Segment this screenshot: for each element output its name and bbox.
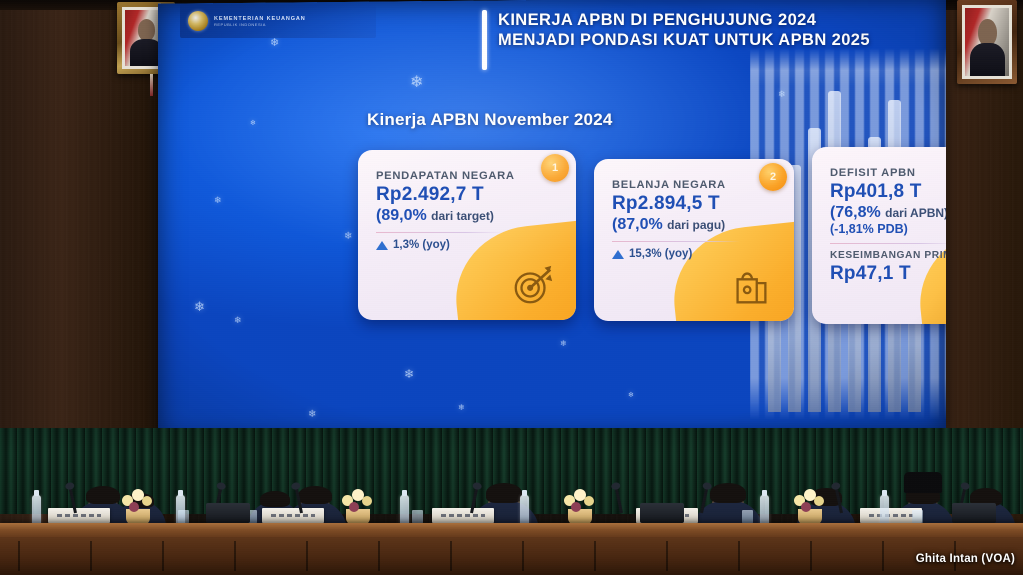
card-yoy-text: 15,3% (yoy) (629, 248, 692, 260)
kpi-card-belanja-negara: 2 BELANJA NEGARA Rp2.894,5 T (87,0% dari… (594, 159, 794, 321)
card-label: PENDAPATAN NEGARA (376, 170, 562, 182)
snowflake-icon: ❄ (560, 340, 567, 348)
speaker-hair (86, 486, 120, 505)
snowflake-icon: ❄ (214, 196, 222, 205)
card-percent-main: (76,8% (830, 204, 881, 221)
card-percent-note: dari APBN) (885, 206, 946, 220)
card-value-secondary: Rp47,1 T (830, 263, 946, 285)
speaker-hair (486, 483, 522, 503)
flower-arrangement (790, 489, 830, 525)
target-icon (510, 262, 556, 308)
card-label-secondary: KESEIMBANGAN PRIMER (830, 250, 946, 261)
kpi-card-defisit-apbn: 3 DEFISIT APBN Rp401,8 T (76,8% dari APB… (812, 147, 946, 324)
flower-bloom (584, 496, 594, 506)
ministry-logo-strip: KEMENTERIAN KEUANGAN REPUBLIK INDONESIA (180, 4, 376, 38)
card-percent: (76,8% dari APBN) (830, 204, 946, 222)
snowflake-icon: ❄ (234, 316, 242, 325)
water-bottle (760, 495, 769, 525)
snowflake-icon: ❄ (404, 368, 414, 380)
snowflake-icon: ❄ (194, 300, 205, 313)
card-divider (612, 241, 740, 242)
laptop (206, 503, 250, 523)
slide-title-block: KINERJA APBN DI PENGHUJUNG 2024 MENJADI … (482, 10, 882, 70)
card-percent: (87,0% dari pagu) (612, 216, 780, 234)
laptop (640, 503, 684, 523)
water-bottle (32, 495, 41, 525)
speaker-nameplate (432, 508, 494, 523)
water-bottle (880, 495, 889, 525)
card-value: Rp2.492,7 T (376, 184, 562, 206)
flower-arrangement (118, 489, 158, 525)
snowflake-icon: ❄ (308, 410, 316, 420)
panel-of-speakers: Ghita Intan (VOA) (0, 430, 1023, 575)
seated-speaker (712, 487, 744, 527)
kpi-card-pendapatan-negara: 1 PENDAPATAN NEGARA Rp2.492,7 T (89,0% d… (358, 150, 576, 320)
slide-title: KINERJA APBN DI PENGHUJUNG 2024 MENJADI … (498, 10, 882, 70)
card-percent: (89,0% dari target) (376, 207, 562, 225)
flower-bloom (349, 502, 359, 512)
flower-bloom (801, 502, 811, 512)
flower-bloom (129, 502, 139, 512)
speaker-nameplate (48, 508, 110, 523)
card-percent-note: dari pagu) (667, 218, 725, 232)
card-value: Rp401,8 T (830, 181, 946, 203)
snowflake-icon: ❄ (458, 404, 465, 412)
snowflake-icon: ❄ (344, 232, 352, 242)
peci-cap (904, 472, 941, 494)
flower-bloom (814, 496, 824, 506)
card-label: DEFISIT APBN (830, 167, 946, 179)
microphone (615, 487, 623, 513)
card-percent-main: (87,0% (612, 216, 663, 233)
flag-pole (150, 74, 153, 96)
card-label: BELANJA NEGARA (612, 179, 780, 191)
card-yoy-text: 1,3% (yoy) (393, 239, 450, 251)
card-divider (830, 243, 946, 244)
card-percent-note: dari target) (431, 209, 494, 223)
flower-arrangement (338, 489, 378, 525)
flower-bloom (142, 496, 152, 506)
speaker-nameplate (262, 508, 324, 523)
projection-screen: ❄❄❄❄❄❄❄❄❄❄❄❄❄❄ KEMENTERIAN KEUANGAN REPU… (158, 0, 946, 441)
ministry-emblem-icon (188, 11, 208, 31)
trend-up-icon (376, 241, 388, 250)
speaker-hair (260, 491, 290, 507)
card-yoy: 15,3% (yoy) (612, 248, 780, 260)
snowflake-icon: ❄ (410, 75, 423, 91)
ministry-subname: REPUBLIK INDONESIA (214, 22, 306, 27)
photo-credit: Ghita Intan (VOA) (916, 553, 1015, 565)
snowflake-icon: ❄ (628, 392, 634, 399)
title-accent-bar (482, 10, 487, 70)
card-value: Rp2.894,5 T (612, 193, 780, 215)
flower-bloom (362, 496, 372, 506)
trend-up-icon (612, 250, 624, 259)
card-percent-main: (89,0% (376, 207, 427, 224)
water-bottle (520, 495, 529, 525)
speaker-hair (298, 486, 332, 505)
snowflake-icon: ❄ (250, 120, 256, 127)
snowflake-icon: ❄ (270, 38, 279, 49)
snowflake-icon: ❄ (778, 90, 786, 99)
water-bottle (400, 495, 409, 525)
shopping-bag-icon (728, 263, 774, 309)
card-percent-secondary: (-1,81% PDB) (830, 222, 946, 236)
speaker-hair (710, 483, 746, 503)
desk-front-panel (0, 537, 1023, 575)
kpi-cards-row: 1 PENDAPATAN NEGARA Rp2.492,7 T (89,0% d… (354, 145, 946, 325)
laptop (952, 503, 996, 523)
press-conference-photo: ❄❄❄❄❄❄❄❄❄❄❄❄❄❄ KEMENTERIAN KEUANGAN REPU… (0, 0, 1023, 575)
card-divider (376, 232, 504, 233)
vice-president-portrait-frame (957, 0, 1017, 84)
flower-arrangement (560, 489, 600, 525)
card-yoy: 1,3% (yoy) (376, 239, 562, 251)
slide-subtitle: Kinerja APBN November 2024 (367, 110, 613, 130)
flower-bloom (571, 502, 581, 512)
